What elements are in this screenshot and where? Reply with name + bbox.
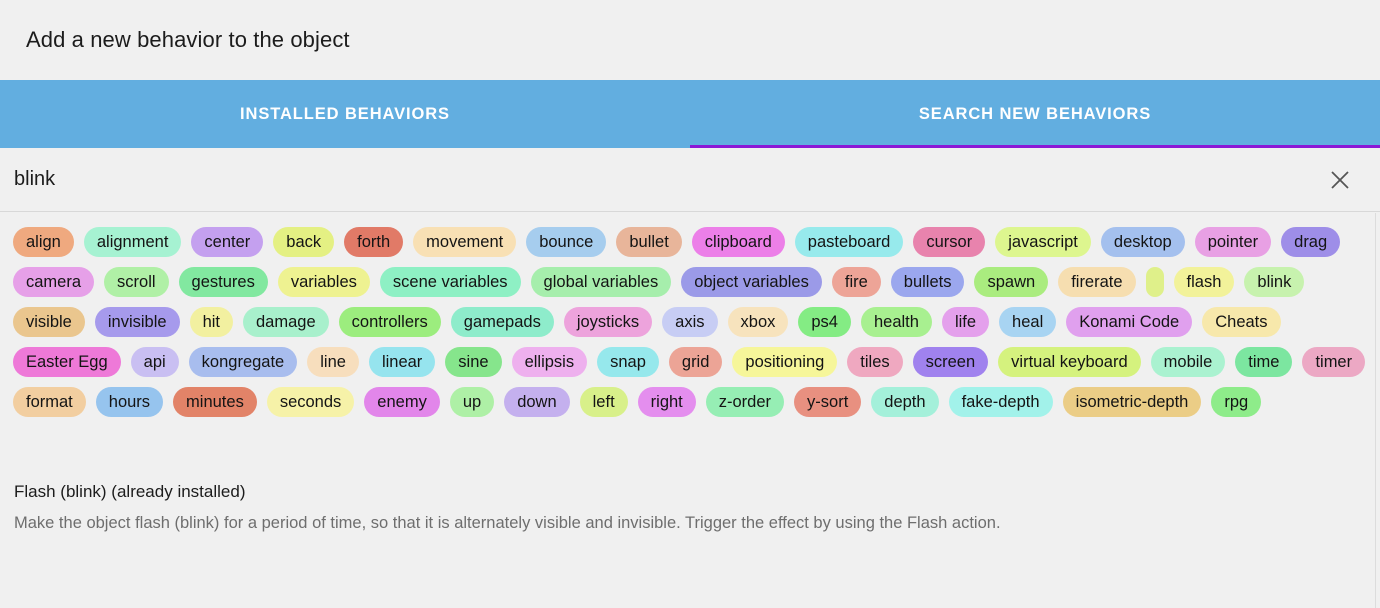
tag-pill[interactable]: heal	[999, 307, 1056, 337]
tag-pill[interactable]: firerate	[1058, 267, 1135, 297]
tag-pill[interactable]: linear	[369, 347, 435, 377]
tab-installed-behaviors-label: INSTALLED BEHAVIORS	[240, 105, 450, 124]
tag-pill[interactable]: invisible	[95, 307, 180, 337]
tag-pill[interactable]: gestures	[179, 267, 268, 297]
search-bar	[0, 148, 1380, 212]
tag-pill[interactable]: fake-depth	[949, 387, 1053, 417]
tag-pill[interactable]: xbox	[728, 307, 789, 337]
tag-pill[interactable]: right	[638, 387, 696, 417]
tag-pill[interactable]	[1146, 267, 1164, 297]
tag-pill[interactable]: timer	[1302, 347, 1365, 377]
behavior-result-description: Make the object flash (blink) for a peri…	[14, 512, 1366, 534]
tag-pill[interactable]: health	[861, 307, 932, 337]
tab-installed-behaviors[interactable]: INSTALLED BEHAVIORS	[0, 80, 690, 148]
tag-pill[interactable]: gamepads	[451, 307, 554, 337]
tag-pill[interactable]: down	[504, 387, 569, 417]
tag-cloud-container: alignalignmentcenterbackforthmovementbou…	[0, 212, 1380, 466]
tag-pill[interactable]: left	[580, 387, 628, 417]
tag-pill[interactable]: variables	[278, 267, 370, 297]
tag-pill[interactable]: bullets	[891, 267, 965, 297]
tag-pill[interactable]: up	[450, 387, 494, 417]
tag-pill[interactable]: api	[131, 347, 179, 377]
tag-pill[interactable]: hours	[96, 387, 163, 417]
tag-pill[interactable]: joysticks	[564, 307, 652, 337]
tag-pill[interactable]: bullet	[616, 227, 681, 257]
tag-pill[interactable]: camera	[13, 267, 94, 297]
tag-pill[interactable]: global variables	[531, 267, 672, 297]
tab-bar: INSTALLED BEHAVIORS SEARCH NEW BEHAVIORS	[0, 80, 1380, 148]
tag-pill[interactable]: object variables	[681, 267, 822, 297]
tag-pill[interactable]: minutes	[173, 387, 257, 417]
tag-pill[interactable]: life	[942, 307, 989, 337]
tag-pill[interactable]: format	[13, 387, 86, 417]
tag-pill[interactable]: mobile	[1151, 347, 1226, 377]
tag-pill[interactable]: z-order	[706, 387, 784, 417]
tag-pill[interactable]: positioning	[732, 347, 837, 377]
tag-pill[interactable]: flash	[1174, 267, 1235, 297]
tag-pill[interactable]: cursor	[913, 227, 985, 257]
tag-pill[interactable]: enemy	[364, 387, 440, 417]
tag-pill[interactable]: scroll	[104, 267, 169, 297]
tag-pill[interactable]: scene variables	[380, 267, 521, 297]
clear-search-button[interactable]	[1320, 160, 1360, 200]
tag-pill[interactable]: pointer	[1195, 227, 1271, 257]
tag-pill[interactable]: y-sort	[794, 387, 861, 417]
tag-pill[interactable]: pasteboard	[795, 227, 904, 257]
tag-pill[interactable]: ps4	[798, 307, 851, 337]
close-icon	[1329, 169, 1351, 191]
search-input[interactable]	[14, 168, 1320, 191]
tag-pill[interactable]: center	[191, 227, 263, 257]
tag-pill[interactable]: rpg	[1211, 387, 1261, 417]
tag-pill[interactable]: isometric-depth	[1063, 387, 1202, 417]
tag-pill[interactable]: visible	[13, 307, 85, 337]
tag-pill[interactable]: damage	[243, 307, 329, 337]
tag-pill[interactable]: snap	[597, 347, 659, 377]
tag-pill[interactable]: tiles	[847, 347, 902, 377]
tag-pill[interactable]: desktop	[1101, 227, 1185, 257]
tag-pill[interactable]: virtual keyboard	[998, 347, 1140, 377]
tag-pill[interactable]: line	[307, 347, 359, 377]
tag-pill[interactable]: controllers	[339, 307, 441, 337]
tag-pill[interactable]: alignment	[84, 227, 182, 257]
add-behavior-dialog: Add a new behavior to the object INSTALL…	[0, 0, 1380, 608]
tag-pill[interactable]: axis	[662, 307, 717, 337]
tag-pill[interactable]: Cheats	[1202, 307, 1280, 337]
tag-pill[interactable]: forth	[344, 227, 403, 257]
vertical-scrollbar[interactable]	[1375, 213, 1380, 608]
tag-pill[interactable]: fire	[832, 267, 881, 297]
tag-pill[interactable]: drag	[1281, 227, 1340, 257]
tag-pill[interactable]: Easter Egg	[13, 347, 121, 377]
tag-pill[interactable]: time	[1235, 347, 1292, 377]
tag-pill[interactable]: spawn	[974, 267, 1048, 297]
tag-pill[interactable]: hit	[190, 307, 233, 337]
tag-pill[interactable]: kongregate	[189, 347, 298, 377]
tag-pill[interactable]: ellipsis	[512, 347, 588, 377]
tag-pill[interactable]: grid	[669, 347, 723, 377]
behavior-result-title: Flash (blink) (already installed)	[14, 482, 1366, 502]
tag-pill[interactable]: bounce	[526, 227, 606, 257]
tag-pill[interactable]: screen	[913, 347, 989, 377]
tag-cloud: alignalignmentcenterbackforthmovementbou…	[0, 222, 1380, 460]
tag-pill[interactable]: blink	[1244, 267, 1304, 297]
tag-pill[interactable]: javascript	[995, 227, 1091, 257]
tag-pill[interactable]: depth	[871, 387, 938, 417]
tag-pill[interactable]: sine	[445, 347, 501, 377]
tag-pill[interactable]: Konami Code	[1066, 307, 1192, 337]
tab-search-new-behaviors-label: SEARCH NEW BEHAVIORS	[919, 105, 1151, 124]
tab-search-new-behaviors[interactable]: SEARCH NEW BEHAVIORS	[690, 80, 1380, 148]
tag-pill[interactable]: movement	[413, 227, 516, 257]
tag-pill[interactable]: clipboard	[692, 227, 785, 257]
dialog-title: Add a new behavior to the object	[26, 27, 350, 53]
dialog-titlebar: Add a new behavior to the object	[0, 0, 1380, 80]
tag-pill[interactable]: align	[13, 227, 74, 257]
tag-pill[interactable]: back	[273, 227, 334, 257]
behavior-result: Flash (blink) (already installed) Make t…	[0, 466, 1380, 534]
tag-pill[interactable]: seconds	[267, 387, 354, 417]
